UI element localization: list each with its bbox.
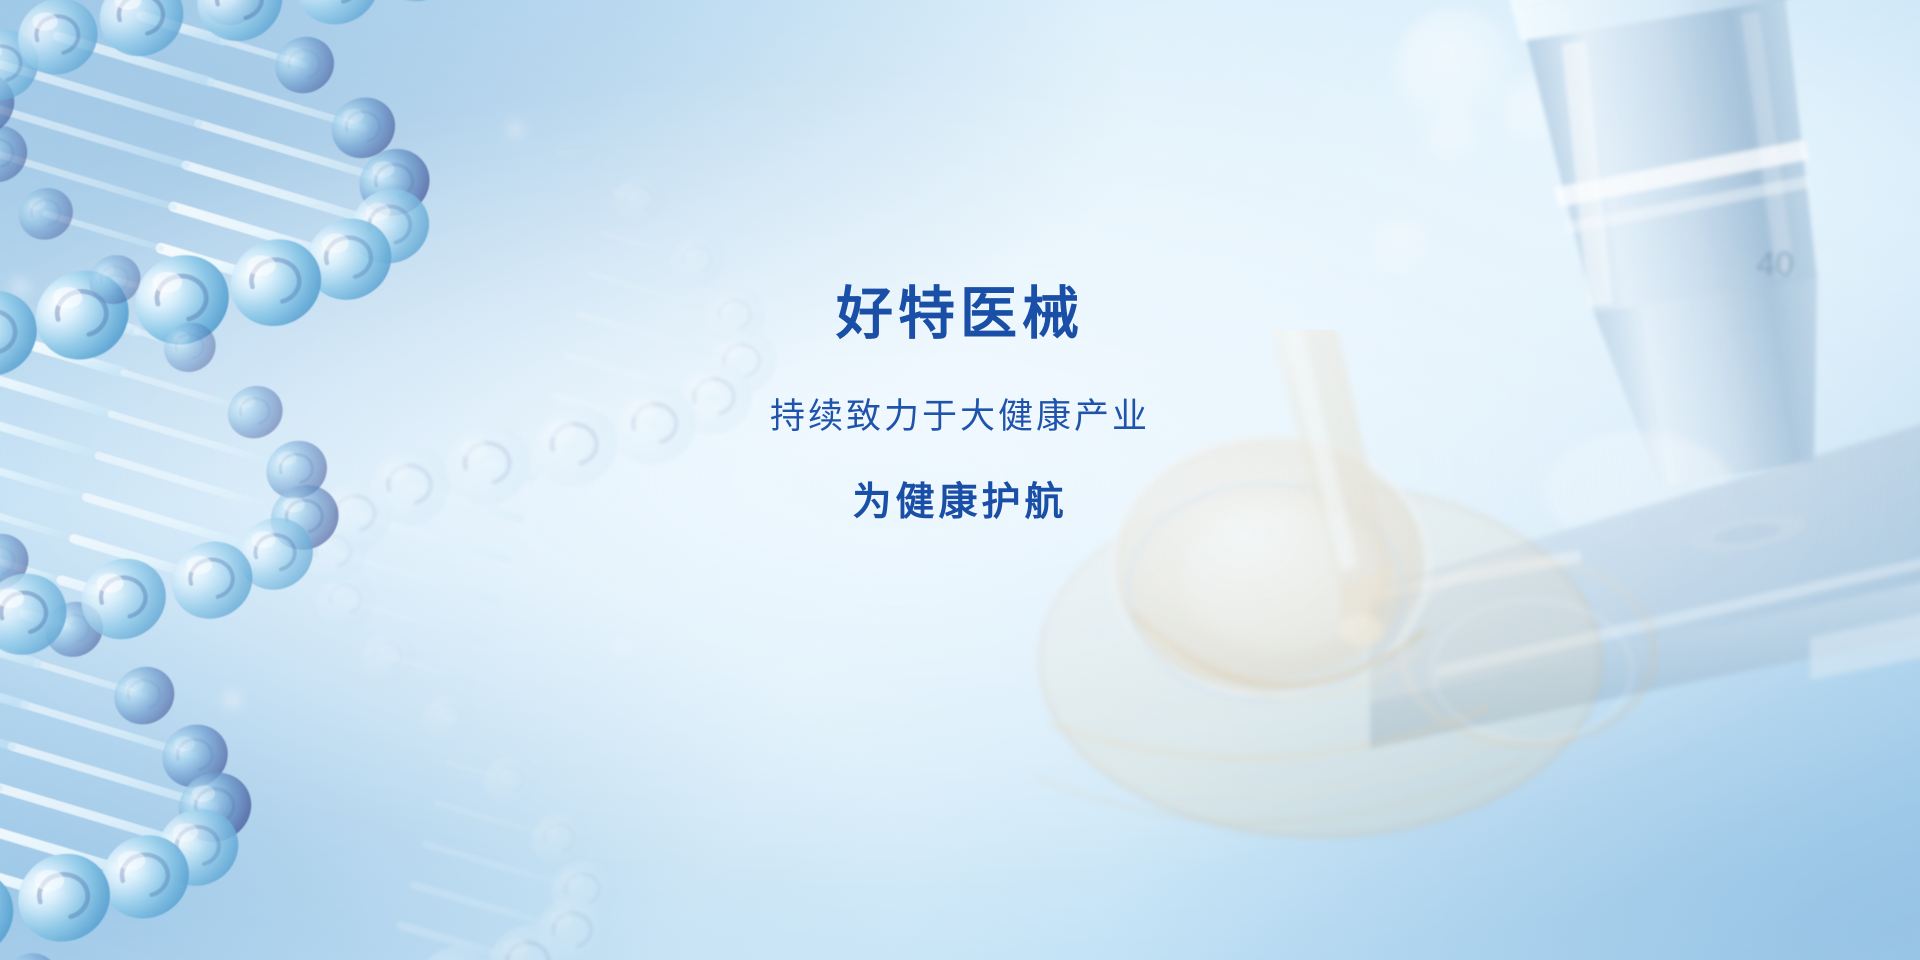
svg-text:40: 40 (1756, 245, 1794, 284)
page-title: 好特医械 (0, 286, 1920, 343)
hero-banner: 40 (0, 0, 1920, 960)
page-tagline: 为健康护航 (0, 483, 1920, 522)
page-subtitle: 持续致力于大健康产业 (0, 399, 1920, 434)
hero-copy: 好特医械 持续致力于大健康产业 为健康护航 (0, 286, 1920, 522)
